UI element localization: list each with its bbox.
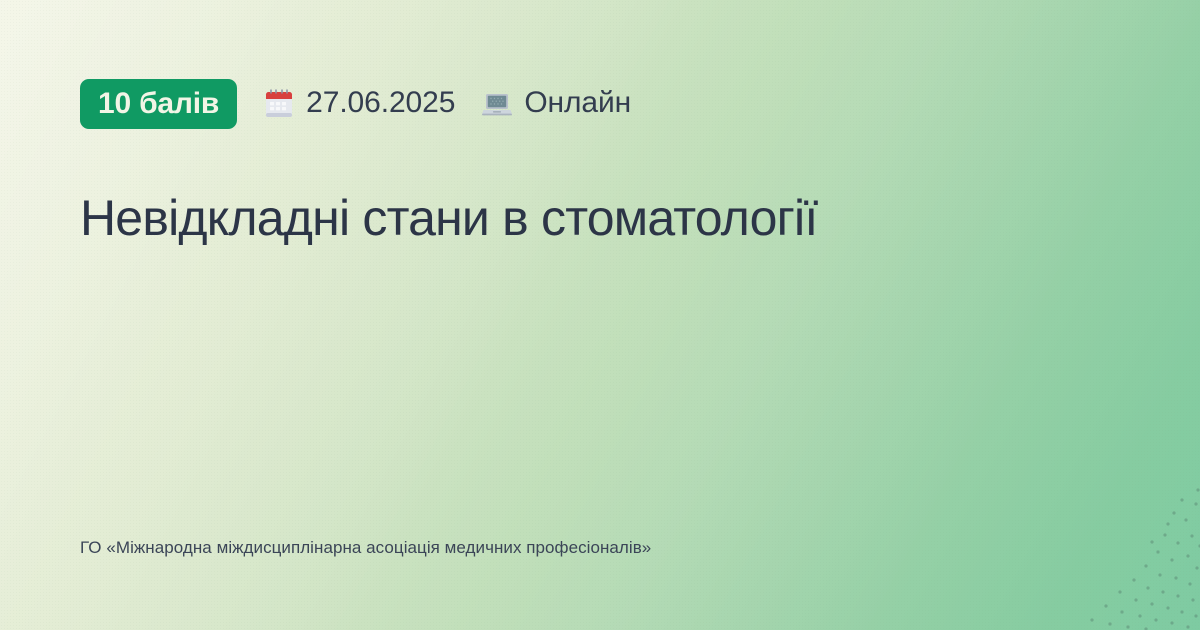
points-badge: 10 балів [80, 79, 237, 129]
meta-row: 10 балів [80, 78, 1120, 130]
event-date-label: 27.06.2025 [306, 88, 455, 120]
organizer-name: ГО «Міжнародна міждисциплінарна асоціаці… [80, 536, 1120, 560]
card-content: 10 балів [0, 0, 1200, 630]
layout-spacer [80, 249, 1120, 536]
title-block: Невідкладні стани в стоматології [80, 188, 1090, 249]
event-format-label: Онлайн [524, 88, 631, 120]
calendar-icon [263, 87, 295, 121]
event-format: Онлайн [481, 87, 631, 121]
event-card: 10 балів [0, 0, 1200, 630]
event-date: 27.06.2025 [263, 87, 455, 121]
event-title: Невідкладні стани в стоматології [80, 188, 1090, 249]
laptop-icon [481, 87, 513, 121]
